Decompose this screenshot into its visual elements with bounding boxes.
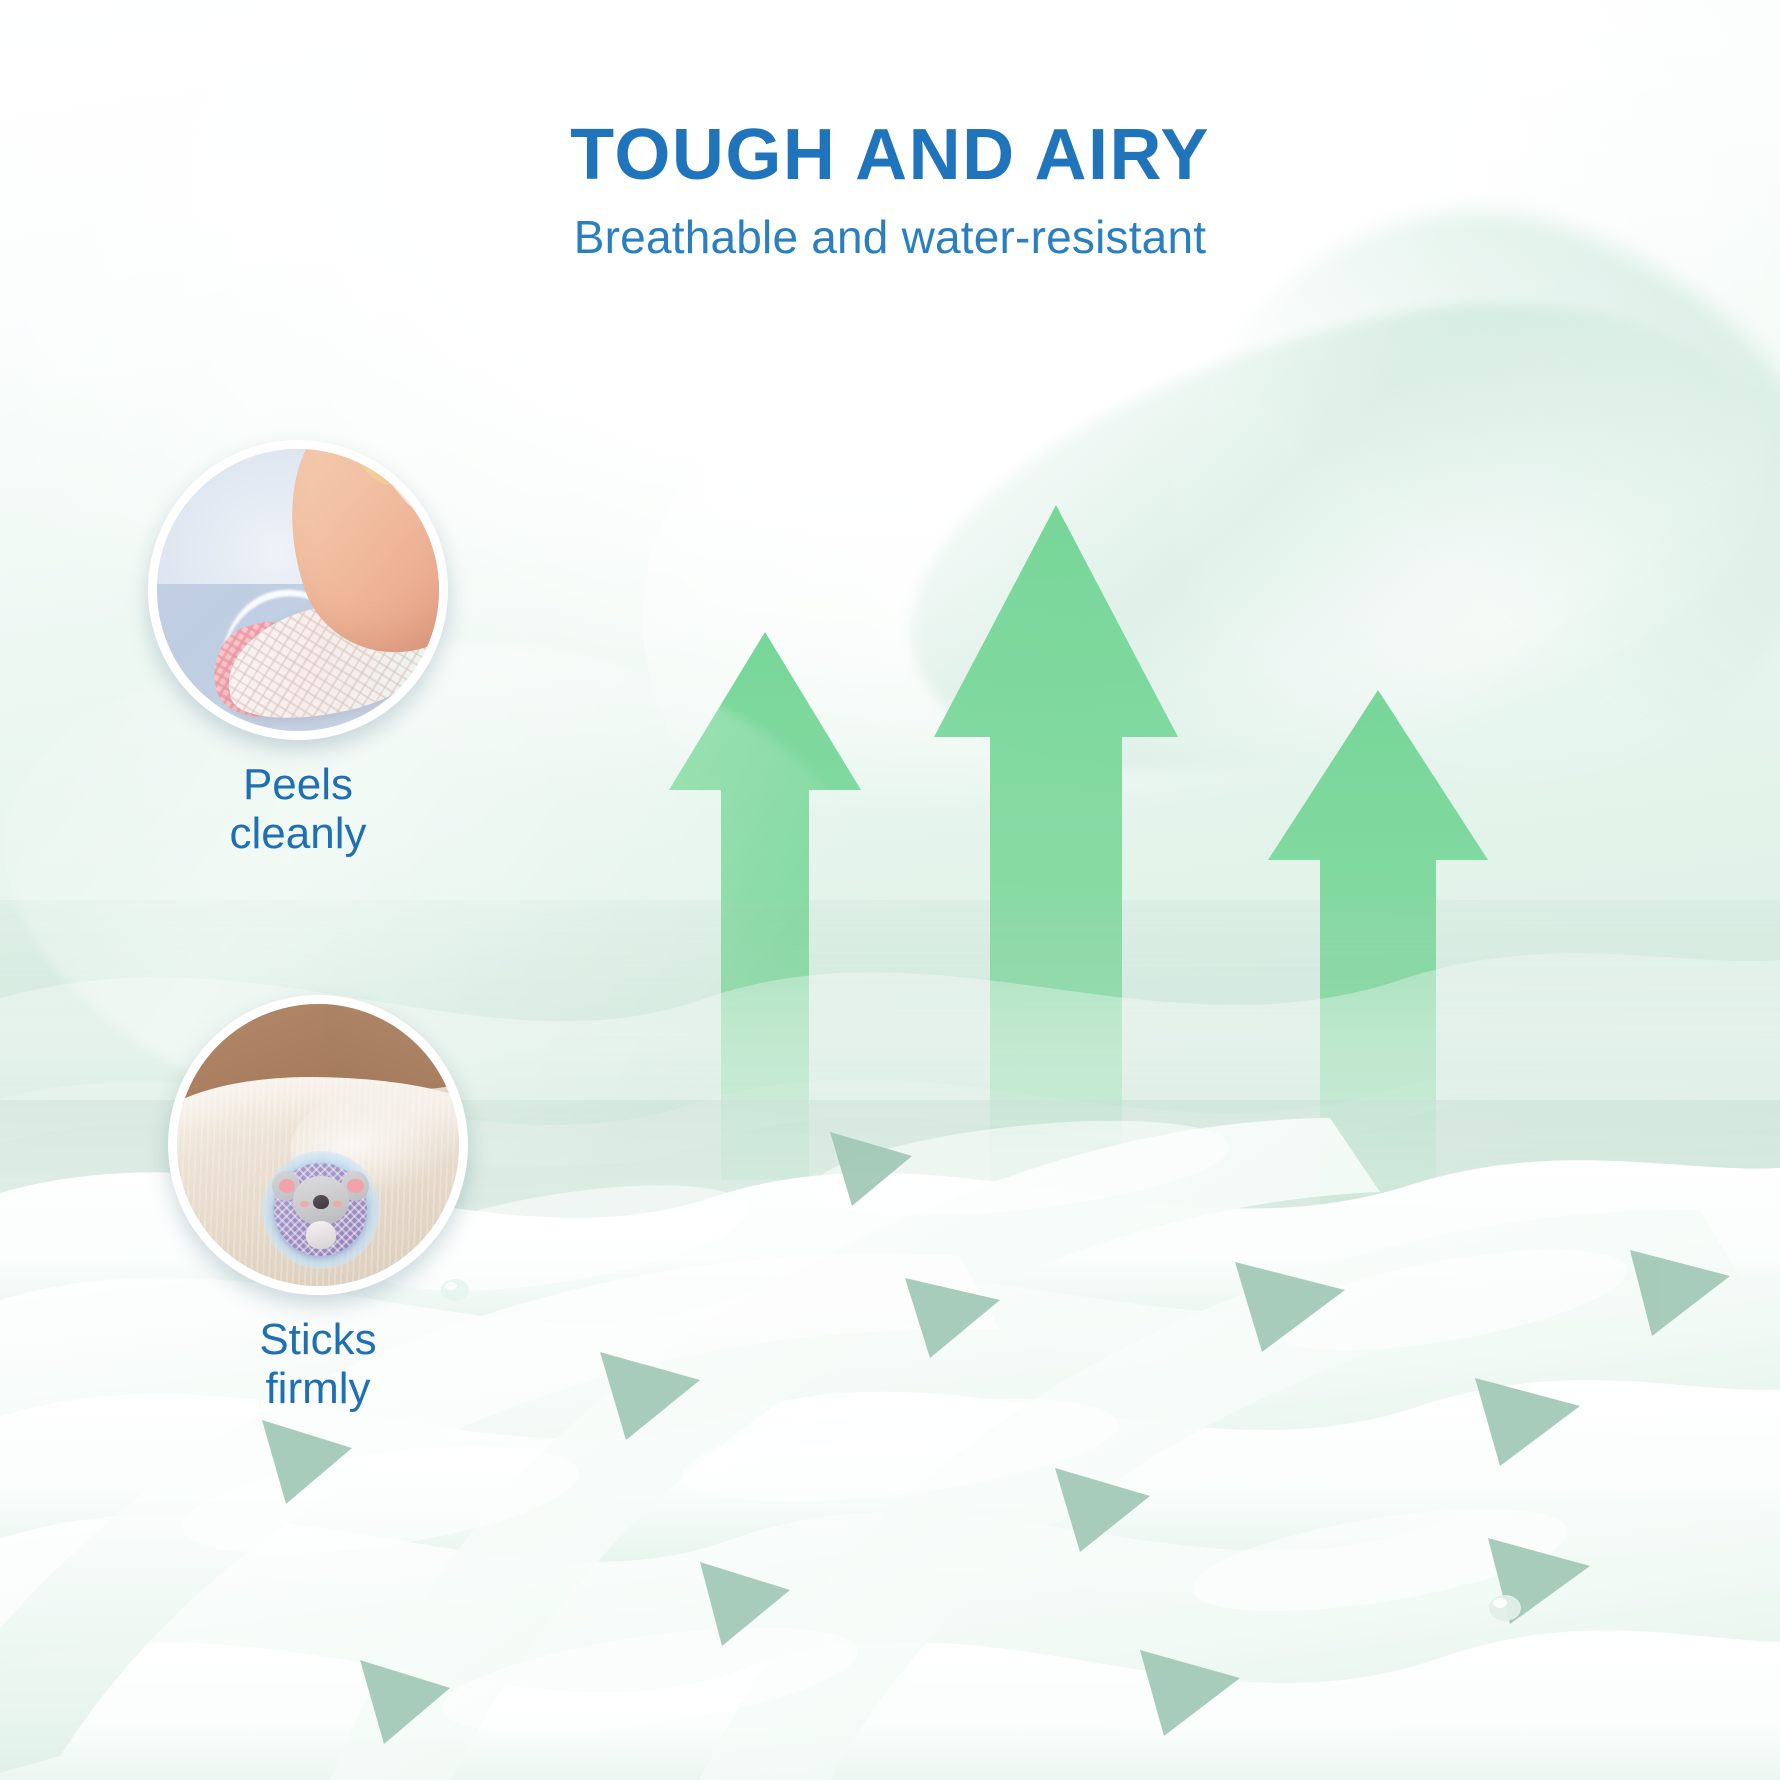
koala-cheek-right	[333, 1201, 342, 1207]
koala-body	[306, 1221, 336, 1249]
photo-patch-on-garment	[177, 1004, 459, 1286]
background-gradient	[0, 0, 1780, 1780]
page-title: TOUGH AND AIRY	[0, 118, 1780, 194]
koala-cheek-left	[300, 1201, 309, 1207]
koala-face	[293, 1176, 349, 1224]
koala-nose	[313, 1195, 329, 1210]
koala-ear-inner-right	[347, 1179, 363, 1193]
koala-ear-inner-left	[279, 1179, 295, 1193]
callout-caption-peels: Peels cleanly	[148, 760, 448, 859]
callout-caption-sticks: Sticks firmly	[168, 1315, 468, 1414]
feature-callout-sticks-firmly[interactable]: Sticks firmly	[168, 995, 468, 1414]
heading-block: TOUGH AND AIRY Breathable and water-resi…	[0, 118, 1780, 264]
feature-callout-peels-cleanly[interactable]: Peels cleanly	[148, 440, 448, 859]
product-feature-graphic: TOUGH AND AIRY Breathable and water-resi…	[0, 0, 1780, 1780]
callout-photo-circle-sticks	[168, 995, 468, 1295]
callout-photo-circle-peels	[148, 440, 448, 740]
photo-peeling-patch	[157, 449, 439, 731]
page-subtitle: Breathable and water-resistant	[0, 210, 1780, 264]
